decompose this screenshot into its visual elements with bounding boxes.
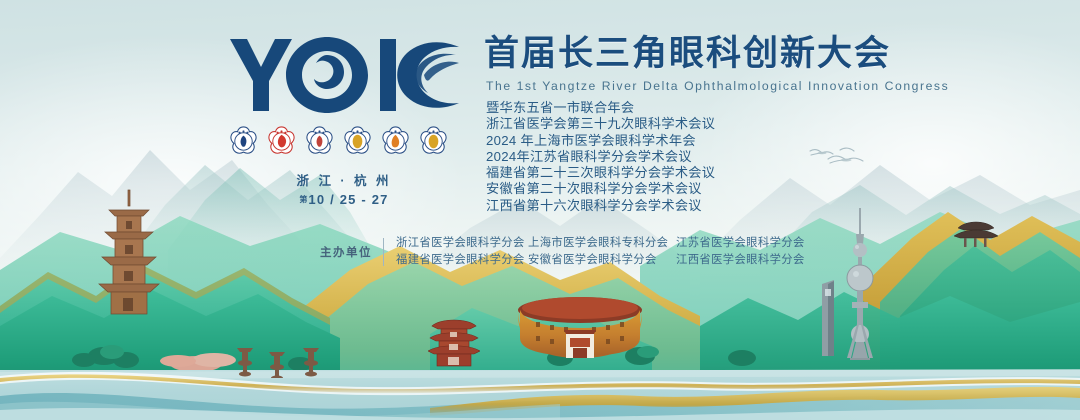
date-prefix: 第 xyxy=(299,195,307,204)
emblem-badge-jiangsu xyxy=(304,125,335,156)
emblem-badge-shanghai xyxy=(266,125,297,156)
meeting-line: 浙江省医学会第三十九次眼科学术会议 xyxy=(486,116,715,132)
meeting-line: 暨华东五省一市联合年会 xyxy=(486,100,715,116)
yoic-logo xyxy=(228,33,460,117)
organizer-item: 浙江省医学会眼科学分会 xyxy=(396,236,528,250)
organizer-item: 福建省医学会眼科学分会 xyxy=(396,253,528,267)
emblem-badge-zhejiang xyxy=(228,125,259,156)
page-title-english: The 1st Yangtze River Delta Ophthalmolog… xyxy=(486,79,949,93)
page-title: 首届长三角眼科创新大会 xyxy=(484,36,891,73)
organizer-item: 江西省医学会眼科学分会 xyxy=(676,253,805,267)
date-value: 10 / 25 - 27 xyxy=(308,192,388,207)
event-location: 浙 江 · 杭 州 xyxy=(228,170,460,189)
organizers-divider xyxy=(383,238,384,266)
emblem-badge-jiangxi xyxy=(418,125,449,156)
conference-banner: 浙 江 · 杭 州 第10 / 25 - 27 首届长三角眼科创新大会 The … xyxy=(0,0,1080,420)
organizer-item: 安徽省医学会眼科学分会 xyxy=(528,253,676,267)
meeting-line: 江西省第十六次眼科学分会学术会议 xyxy=(486,198,715,214)
organizer-item: 江苏省医学会眼科学分会 xyxy=(676,236,805,250)
emblem-badge-fujian xyxy=(342,125,373,156)
meeting-line: 2024年江苏省眼科学分会学术会议 xyxy=(486,149,715,165)
meeting-line: 2024 年上海市医学会眼科学术年会 xyxy=(486,133,715,149)
event-date: 第10 / 25 - 27 xyxy=(228,192,460,207)
meeting-line: 安徽省第二十次眼科学分会学术会议 xyxy=(486,181,715,197)
emblem-badge-anhui xyxy=(380,125,411,156)
society-emblem-badges xyxy=(228,125,449,156)
associated-meetings-list: 暨华东五省一市联合年会 浙江省医学会第三十九次眼科学术会议 2024 年上海市医… xyxy=(486,100,715,214)
organizers-label: 主办单位 xyxy=(320,244,383,260)
meeting-line: 福建省第二十三次眼科学分会学术会议 xyxy=(486,165,715,181)
organizers-grid: 浙江省医学会眼科学分会 上海市医学会眼科专科分会 江苏省医学会眼科学分会 福建省… xyxy=(396,236,805,267)
organizer-item: 上海市医学会眼科专科分会 xyxy=(528,236,676,250)
organizers-section: 主办单位 浙江省医学会眼科学分会 上海市医学会眼科专科分会 江苏省医学会眼科学分… xyxy=(320,236,805,267)
